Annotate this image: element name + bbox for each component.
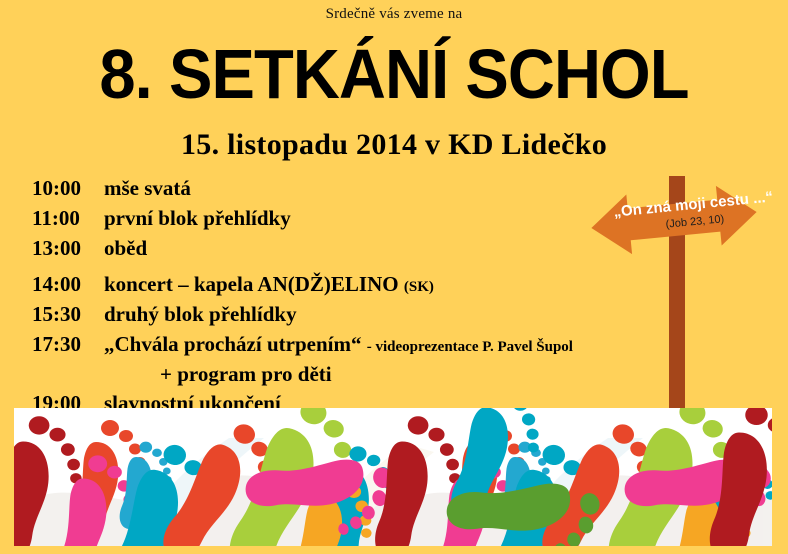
list-item: 11:00 první blok přehlídky [32,206,692,231]
poster-canvas: Srdečně vás zveme na 8. SETKÁNÍ SCHOL 15… [0,0,788,554]
schedule-country-tag: (SK) [404,279,434,295]
list-item: 15:30 druhý blok přehlídky [32,302,692,327]
schedule-description: první blok přehlídky [104,206,291,231]
schedule-time: 13:00 [32,236,104,261]
list-item: 13:00 oběd [32,236,692,261]
schedule-description: oběd [104,236,147,261]
schedule-time: 10:00 [32,176,104,201]
list-item: 10:00 mše svatá [32,176,692,201]
schedule-presenter-note: - videoprezentace P. Pavel Šupol [367,339,573,355]
list-item: 17:30 „Chvála prochází utrpením“ - video… [32,332,692,357]
schedule-description: koncert – kapela AN(DŽ)ELINO (SK) [104,272,434,297]
schedule-description: „Chvála prochází utrpením“ - videoprezen… [104,332,573,357]
schedule-time: 11:00 [32,206,104,231]
list-item: 14:00 koncert – kapela AN(DŽ)ELINO (SK) [32,272,692,297]
schedule-list: 10:00 mše svatá 11:00 první blok přehlíd… [32,176,692,421]
schedule-description: mše svatá [104,176,191,201]
event-date-place: 15. listopadu 2014 v KD Lidečko [0,128,788,162]
page-title: 8. SETKÁNÍ SCHOL [28,38,761,110]
schedule-time: 17:30 [32,332,104,357]
footprints-banner-image [14,408,772,546]
footprints-illustration [14,408,772,546]
schedule-continuation: + program pro děti [32,362,692,387]
schedule-time: 15:30 [32,302,104,327]
schedule-description-text: koncert – kapela AN(DŽ)ELINO [104,272,399,296]
schedule-time: 14:00 [32,272,104,297]
schedule-description: druhý blok přehlídky [104,302,297,327]
schedule-description-text: „Chvála prochází utrpením“ [104,332,361,356]
invite-line: Srdečně vás zveme na [0,6,788,23]
